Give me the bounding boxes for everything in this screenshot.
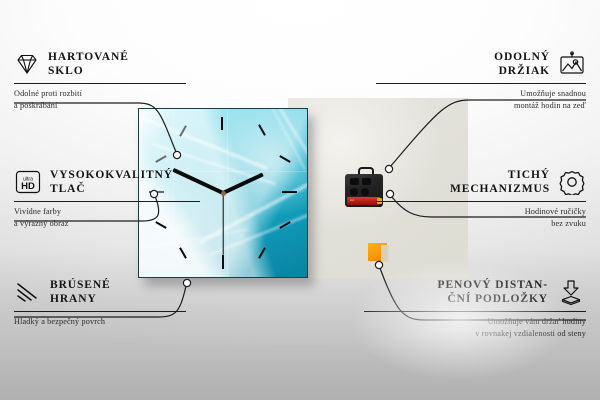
- feature-high-quality-print: ultra HD VYSOKOKVALITNÝ TLAČ Vivídne far…: [14, 168, 224, 230]
- feature-title-line: TLAČ: [50, 182, 173, 196]
- feature-desc-line: montáž hodin na zeď: [376, 100, 586, 112]
- feature-desc-line: bez zvuku: [376, 218, 586, 230]
- divider: [14, 311, 186, 312]
- feature-title-line: HARTOVANÉ: [48, 50, 129, 64]
- ground-edges-icon: [14, 280, 42, 304]
- diamond-icon: [14, 52, 40, 76]
- gear-icon: [558, 169, 586, 195]
- feature-desc-line: Odolné proti rozbití: [14, 88, 214, 100]
- divider: [376, 83, 586, 84]
- svg-text:HD: HD: [21, 181, 35, 192]
- feature-title-line: ČNÍ PODLOŽKY: [438, 292, 548, 306]
- feature-desc-line: Hladký a bezpečný povrch: [14, 316, 214, 328]
- feature-title-line: TICHÝ: [450, 168, 550, 182]
- picture-frame-icon: [558, 51, 586, 77]
- feature-desc-line: a poškrábání: [14, 100, 214, 112]
- feature-desc-line: a výrazný obraz: [14, 218, 224, 230]
- feature-desc-line: Vivídne farby: [14, 206, 224, 218]
- divider: [376, 201, 586, 202]
- feature-title-line: DRŽIAK: [494, 64, 550, 78]
- divider: [14, 201, 200, 202]
- feature-desc-line: Umožňuje vám držať hodiny: [364, 316, 586, 328]
- feature-title-line: ODOLNÝ: [494, 50, 550, 64]
- feature-title-line: BRÚSENÉ: [50, 278, 111, 292]
- feature-silent-mechanism: TICHÝ MECHANIZMUS Hodinové ručičky bez z…: [376, 168, 586, 230]
- feature-desc-line: v rovnakej vzdialenosti od steny: [364, 328, 586, 340]
- feature-title-line: HRANY: [50, 292, 111, 306]
- feature-foam-spacers: PENOVÝ DISTAN- ČNÍ PODLOŽKY Umožňuje vám…: [364, 278, 586, 340]
- feature-title-line: VYSOKOKVALITNÝ: [50, 168, 173, 182]
- feature-tempered-glass: HARTOVANÉ SKLO Odolné proti rozbití a po…: [14, 50, 214, 112]
- feature-ground-edges: BRÚSENÉ HRANY Hladký a bezpečný povrch: [14, 278, 214, 328]
- feature-durable-holder: ODOLNÝ DRŽIAK Umožňuje snadnou montáž ho…: [376, 50, 586, 112]
- divider: [364, 311, 586, 312]
- divider: [14, 83, 186, 84]
- infographic-canvas: AA: [0, 0, 600, 400]
- feature-title-line: SKLO: [48, 64, 129, 78]
- feature-desc-line: Umožňuje snadnou: [376, 88, 586, 100]
- foam-spacer-pad: [368, 243, 387, 261]
- foam-spacer-icon: [556, 279, 586, 305]
- feature-desc-line: Hodinové ručičky: [376, 206, 586, 218]
- feature-title-line: MECHANIZMUS: [450, 182, 550, 196]
- feature-title-line: PENOVÝ DISTAN-: [438, 278, 548, 292]
- ultra-hd-icon: ultra HD: [14, 169, 42, 195]
